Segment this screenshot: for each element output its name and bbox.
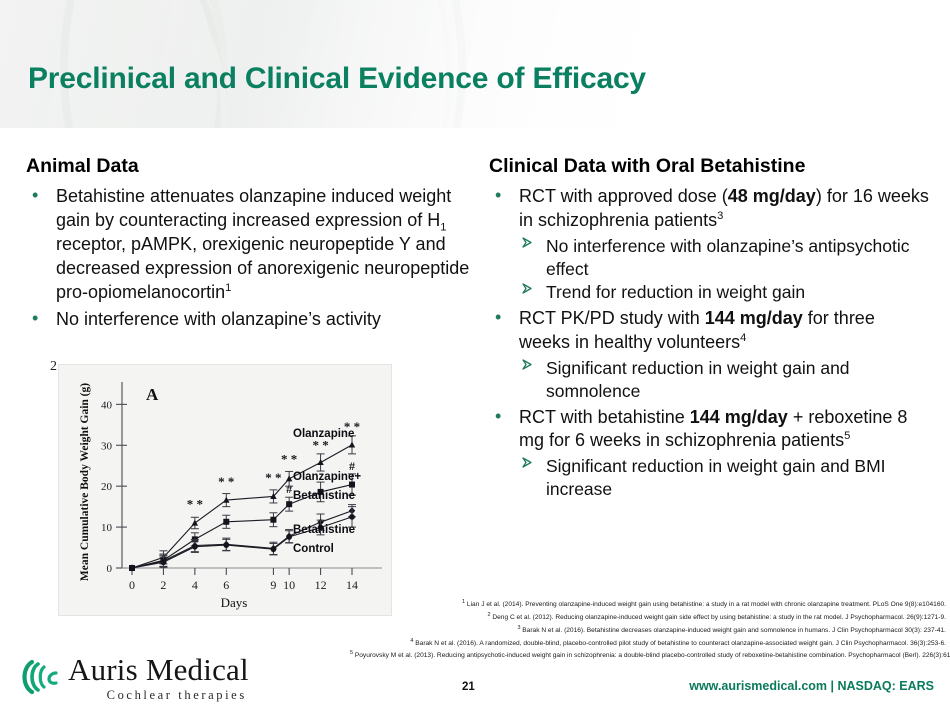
auris-medical-logo-icon xyxy=(18,658,66,696)
clinical-data-sub-list: Significant reduction in weight gain and… xyxy=(519,357,929,403)
clinical-data-sub-bullet: No interference with olanzapine’s antips… xyxy=(519,235,929,281)
data-point-marker xyxy=(161,559,167,565)
company-logo: Auris Medical Cochlear therapies xyxy=(18,655,249,707)
x-tick-label: 14 xyxy=(346,578,358,592)
text-run: RCT with approved dose ( xyxy=(519,186,728,206)
logo-company-name: Auris Medical xyxy=(68,655,249,685)
data-point-marker xyxy=(286,501,292,507)
y-tick-label: 30 xyxy=(101,440,113,452)
bullet-dot-icon: • xyxy=(32,307,38,331)
animal-data-column: Animal Data •Betahistine attenuates olan… xyxy=(26,155,481,335)
text-run: No interference with olanzapine’s activi… xyxy=(56,309,381,329)
chart-legend-label: Olanzapine xyxy=(293,428,354,440)
clinical-data-column: Clinical Data with Oral Betahistine •RCT… xyxy=(489,155,929,504)
text-run: 1 xyxy=(440,222,446,234)
bullet-text: Betahistine attenuates olanzapine induce… xyxy=(56,186,469,302)
data-point-marker xyxy=(271,546,277,552)
x-tick-label: 2 xyxy=(160,578,166,592)
chart-legend-label: Control xyxy=(293,543,334,555)
text-run: RCT with betahistine xyxy=(519,407,690,427)
footnote-item: 5 Poyurovsky M et al. (2013). Reducing a… xyxy=(350,649,946,662)
animal-data-bullet: •Betahistine attenuates olanzapine induc… xyxy=(26,185,481,305)
x-tick-label: 6 xyxy=(223,578,229,592)
footnote-list: 1 Lian J et al. (2014). Preventing olanz… xyxy=(350,598,946,662)
data-point-marker xyxy=(286,475,292,481)
clinical-data-sub-list: No interference with olanzapine’s antips… xyxy=(519,235,929,304)
text-run: Trend for reduction in weight gain xyxy=(546,282,805,302)
bullet-dot-icon: • xyxy=(495,306,501,330)
clinical-data-bullet: •RCT with approved dose (48 mg/day) for … xyxy=(489,185,929,304)
footnote-text: Barak N et al. (2016). Betahistine decre… xyxy=(520,627,946,634)
x-tick-label: 10 xyxy=(283,578,295,592)
animal-data-heading: Animal Data xyxy=(26,155,481,178)
chart-legend-label: Olanzapine+ xyxy=(293,471,361,483)
y-tick-label: 0 xyxy=(107,563,113,575)
panel-label: A xyxy=(146,385,159,404)
text-run: receptor, pAMPK, orexigenic neuropeptide… xyxy=(56,234,469,302)
x-tick-label: 12 xyxy=(315,578,327,592)
text-run: Significant reduction in weight gain and… xyxy=(546,456,886,499)
clinical-data-sub-bullet: Trend for reduction in weight gain xyxy=(519,281,929,304)
text-run: 48 mg/day xyxy=(728,186,816,206)
footnote-text: Deng C et al. (2012). Reducing olanzapin… xyxy=(491,614,946,621)
bullet-dot-icon: • xyxy=(495,405,501,429)
data-point-marker xyxy=(317,459,323,465)
text-run: 1 xyxy=(225,282,231,294)
footnote-item: 3 Barak N et al. (2016). Betahistine dec… xyxy=(350,624,946,637)
series-control xyxy=(129,507,356,571)
chart-legend-label: Betahistine xyxy=(293,524,355,536)
footnote-text: Poyurovsky M et al. (2013). Reducing ant… xyxy=(353,653,950,660)
significance-annotation: * * xyxy=(187,497,203,512)
bullet-dot-icon: • xyxy=(32,184,38,208)
arrow-bullet-icon xyxy=(521,282,534,295)
significance-annotation: # xyxy=(286,482,292,496)
data-point-marker xyxy=(270,517,276,523)
footnote-item: 1 Lian J et al. (2014). Preventing olanz… xyxy=(350,598,946,611)
text-run: Significant reduction in weight gain and… xyxy=(546,358,850,401)
y-tick-label: 40 xyxy=(101,399,113,411)
clinical-data-bullet: •RCT PK/PD study with 144 mg/day for thr… xyxy=(489,307,929,402)
text-run: RCT PK/PD study with xyxy=(519,308,705,328)
data-point-marker xyxy=(223,519,229,525)
footnote-text: Lian J et al. (2014). Preventing olanzap… xyxy=(465,601,946,608)
bullet-text: RCT PK/PD study with 144 mg/day for thre… xyxy=(519,308,875,352)
weight-gain-figure: 2 01020304002469101214DaysMean Cumulativ… xyxy=(46,360,391,616)
significance-annotation: * * xyxy=(265,470,281,485)
clinical-data-sub-bullet: Significant reduction in weight gain and… xyxy=(519,357,929,403)
data-point-marker xyxy=(223,542,229,548)
text-run: 144 mg/day xyxy=(690,407,788,427)
data-point-marker xyxy=(129,565,135,571)
logo-wordmark: Auris Medical Cochlear therapies xyxy=(68,655,249,703)
data-point-marker xyxy=(192,520,198,526)
text-run: Betahistine attenuates olanzapine induce… xyxy=(56,186,451,230)
footnote-item: 2 Deng C et al. (2012). Reducing olanzap… xyxy=(350,611,946,624)
animal-data-bullet: •No interference with olanzapine’s activ… xyxy=(26,308,481,332)
arrow-bullet-icon xyxy=(521,358,534,371)
x-tick-label: 0 xyxy=(129,578,135,592)
weight-gain-line-chart: 01020304002469101214DaysMean Cumulative … xyxy=(46,360,391,616)
bullet-text: RCT with approved dose (48 mg/day) for 1… xyxy=(519,186,929,230)
page-title: Preclinical and Clinical Evidence of Eff… xyxy=(28,62,646,96)
y-axis-label: Mean Cumulative Body Weight Gain (g) xyxy=(79,383,91,581)
sub-bullet-text: Significant reduction in weight gain and… xyxy=(546,358,850,401)
significance-annotation: * * xyxy=(218,474,234,489)
page-number: 21 xyxy=(462,681,475,693)
text-run: 4 xyxy=(740,332,746,344)
logo-tagline: Cochlear therapies xyxy=(68,688,247,703)
clinical-data-bullet: •RCT with betahistine 144 mg/day + rebox… xyxy=(489,406,929,501)
bullet-dot-icon: • xyxy=(495,184,501,208)
bullet-text: RCT with betahistine 144 mg/day + reboxe… xyxy=(519,407,907,451)
x-tick-label: 4 xyxy=(192,578,198,592)
data-point-marker xyxy=(192,544,198,550)
footnote-text: Barak N et al. (2016). A randomized, dou… xyxy=(413,640,946,647)
clinical-data-bullet-list: •RCT with approved dose (48 mg/day) for … xyxy=(489,185,929,501)
arrow-bullet-icon xyxy=(521,456,534,469)
footnote-item: 4 Barak N et al. (2016). A randomized, d… xyxy=(350,637,946,650)
x-axis-label: Days xyxy=(221,595,248,610)
website-ticker-line: www.aurismedical.com | NASDAQ: EARS xyxy=(689,679,934,693)
animal-data-bullet-list: •Betahistine attenuates olanzapine induc… xyxy=(26,185,481,332)
significance-annotation: * * xyxy=(281,452,297,467)
data-point-marker xyxy=(349,441,355,447)
data-point-marker xyxy=(349,514,355,520)
y-tick-label: 20 xyxy=(101,481,113,493)
bullet-text: No interference with olanzapine’s activi… xyxy=(56,309,381,329)
text-run: 144 mg/day xyxy=(705,308,803,328)
sub-bullet-text: No interference with olanzapine’s antips… xyxy=(546,236,910,279)
data-point-marker xyxy=(286,534,292,540)
arrow-bullet-icon xyxy=(521,236,534,249)
text-run: No interference with olanzapine’s antips… xyxy=(546,236,910,279)
y-tick-label: 10 xyxy=(101,522,113,534)
text-run: 3 xyxy=(717,210,723,222)
sub-bullet-text: Significant reduction in weight gain and… xyxy=(546,456,886,499)
clinical-data-heading: Clinical Data with Oral Betahistine xyxy=(489,155,929,178)
x-tick-label: 9 xyxy=(270,578,276,592)
slide-root: Preclinical and Clinical Evidence of Eff… xyxy=(0,0,950,713)
text-run: 5 xyxy=(844,430,850,442)
chart-legend-label: Betahistine xyxy=(293,490,355,502)
sub-bullet-text: Trend for reduction in weight gain xyxy=(546,282,805,302)
clinical-data-sub-list: Significant reduction in weight gain and… xyxy=(519,455,929,501)
clinical-data-sub-bullet: Significant reduction in weight gain and… xyxy=(519,455,929,501)
